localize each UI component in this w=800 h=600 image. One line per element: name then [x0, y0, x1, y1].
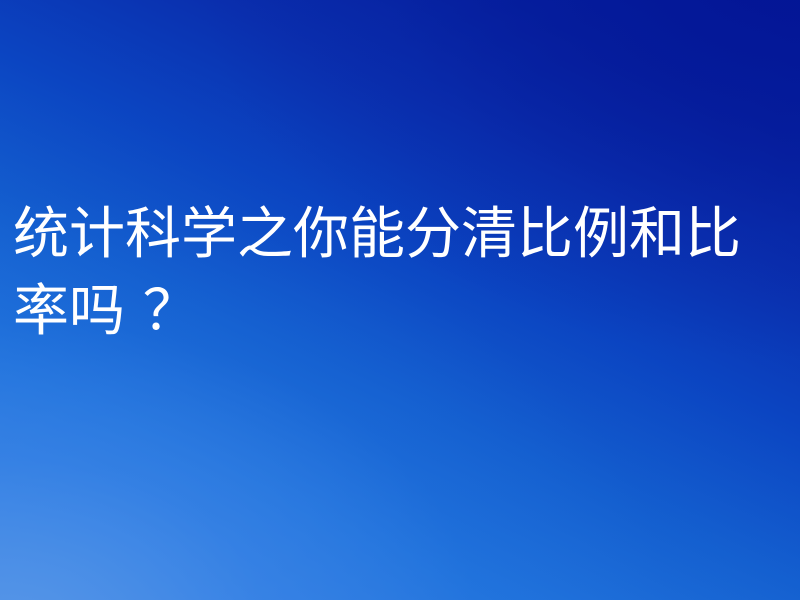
headline-line-1: 统计科学之你能分清比例和比 — [13, 196, 800, 273]
title-card: 统计科学之你能分清比例和比 率吗 ？ — [0, 0, 800, 600]
headline-line-2: 率吗 ？ — [13, 273, 800, 350]
headline: 统计科学之你能分清比例和比 率吗 ？ — [13, 196, 800, 350]
